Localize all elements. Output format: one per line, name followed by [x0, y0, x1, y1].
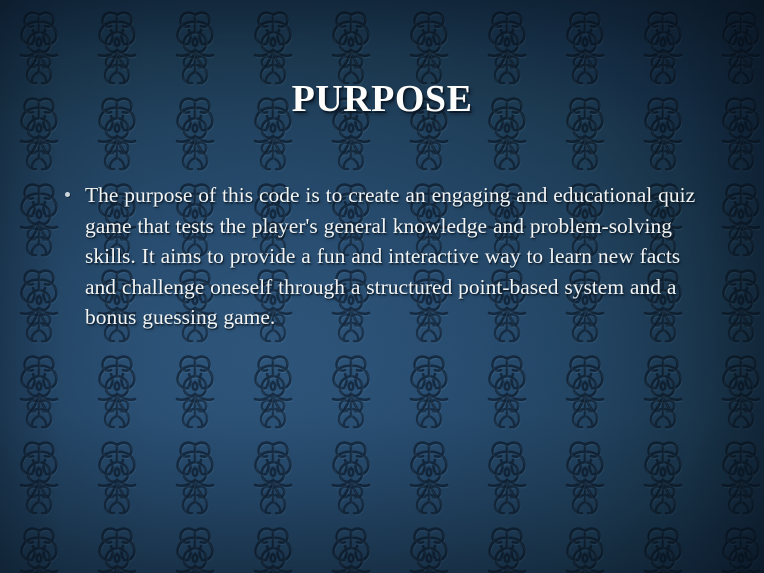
- slide-body: The purpose of this code is to create an…: [60, 180, 710, 333]
- presentation-slide: PURPOSE The purpose of this code is to c…: [0, 0, 764, 573]
- slide-content: PURPOSE The purpose of this code is to c…: [0, 0, 764, 573]
- bullet-item-text: The purpose of this code is to create an…: [85, 180, 710, 333]
- bullet-list-item: The purpose of this code is to create an…: [60, 180, 710, 333]
- bullet-dot-icon: [65, 192, 70, 197]
- slide-title: PURPOSE: [0, 77, 764, 121]
